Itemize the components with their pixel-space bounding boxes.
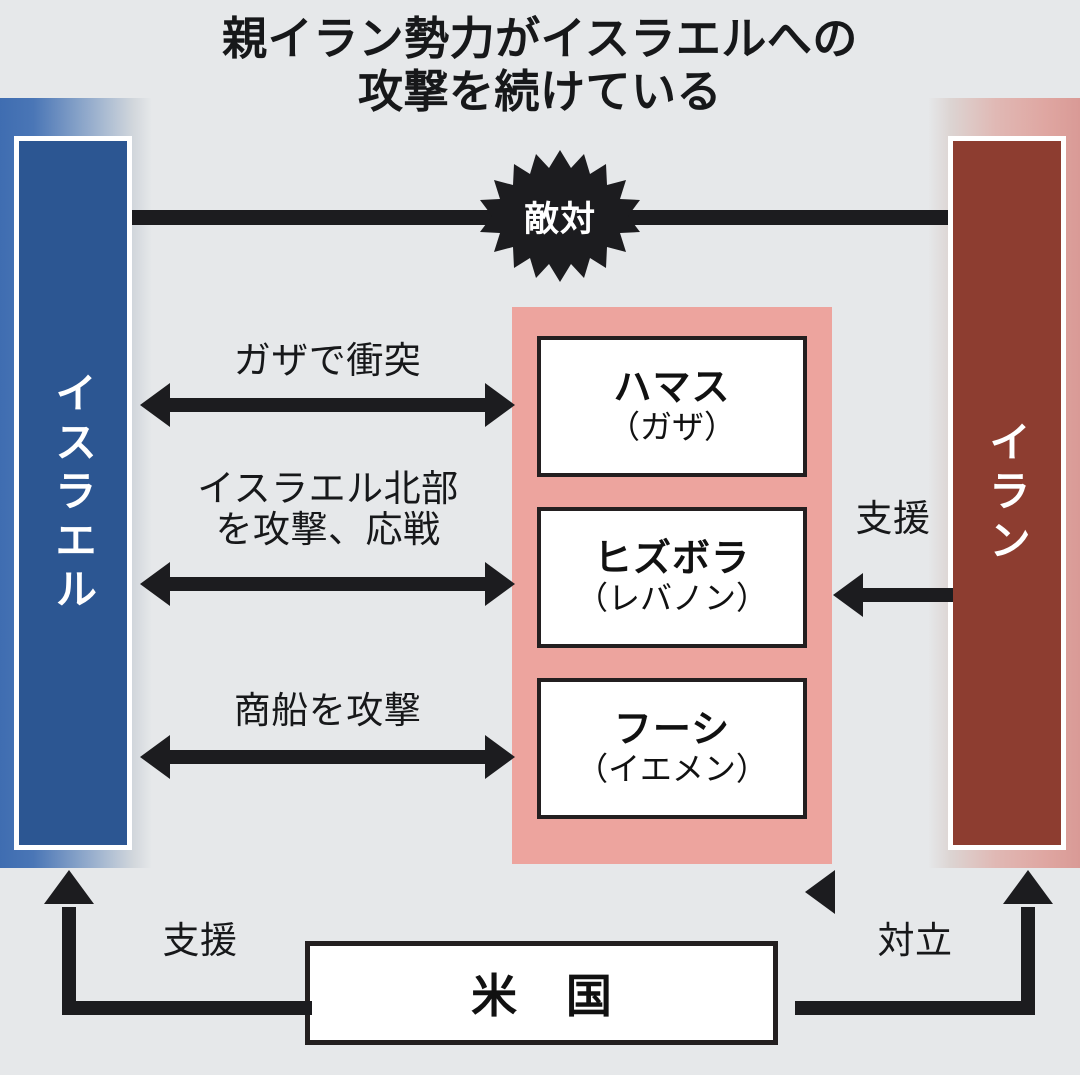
arrowhead-left-icon (780, 870, 835, 914)
arrow-shaft (859, 588, 953, 602)
arrow-segment-horizontal (62, 1001, 312, 1015)
proxy-box-hamas: ハマス （ガザ） (537, 336, 807, 477)
arrowhead-up-icon (1003, 870, 1053, 904)
proxy-location-hezbollah: （レバノン） (576, 581, 768, 616)
relation-label-iran-hezbollah: 支援 (828, 498, 958, 539)
arrowhead-up-icon (44, 870, 94, 904)
actor-label-israel: イスラエル (43, 371, 104, 616)
relation-label-us-israel: 支援 (120, 920, 280, 961)
relation-label-israel-hezbollah-line2: を攻撃、応戦 (128, 509, 528, 550)
infographic-canvas: 親イラン勢力がイスラエルへの 攻撃を続けている 敵対 イスラエル イラン ハマス… (0, 0, 1080, 1075)
relation-label-iran-us: 対立 (835, 920, 995, 961)
actor-label-us: 米 国 (453, 960, 630, 1026)
actor-panel-iran: イラン (948, 136, 1066, 850)
title-line-2: 攻撃を続けている (0, 65, 1080, 118)
relation-label-israel-hezbollah: イスラエル北部 を攻撃、応戦 (128, 468, 528, 551)
title-line-1: 親イラン勢力がイスラエルへの (0, 12, 1080, 65)
arrowhead-right-icon (485, 562, 515, 606)
actor-label-iran: イラン (977, 420, 1038, 567)
arrow-shaft (166, 750, 489, 764)
arrow-shaft (166, 398, 489, 412)
arrow-segment-vertical (1021, 907, 1035, 1015)
page-title: 親イラン勢力がイスラエルへの 攻撃を続けている (0, 12, 1080, 118)
hostility-starburst: 敵対 (480, 150, 640, 282)
proxy-name-hezbollah: ヒズボラ (594, 539, 750, 579)
arrowhead-right-icon (485, 735, 515, 779)
proxy-name-houthi: フーシ (614, 710, 730, 750)
arrow-segment-horizontal (795, 1001, 1035, 1015)
arrowhead-right-icon (485, 383, 515, 427)
relation-label-israel-hamas: ガザで衝突 (140, 340, 515, 381)
proxy-location-houthi: （イエメン） (576, 752, 768, 787)
proxy-box-houthi: フーシ （イエメン） (537, 678, 807, 819)
relation-label-israel-hamas-line1: ガザで衝突 (140, 340, 515, 381)
iran-proxy-group: ハマス （ガザ） ヒズボラ （レバノン） フーシ （イエメン） (512, 307, 832, 864)
proxy-location-hamas: （ガザ） (608, 410, 736, 445)
actor-panel-israel: イスラエル (14, 136, 132, 850)
hostility-label: 敵対 (480, 150, 640, 282)
double-arrow-israel-hamas (140, 383, 515, 427)
relation-label-israel-hezbollah-line1: イスラエル北部 (128, 468, 528, 509)
proxy-box-hezbollah: ヒズボラ （レバノン） (537, 507, 807, 648)
relation-label-israel-houthi: 商船を攻撃 (140, 690, 515, 731)
arrow-iran-to-proxies (833, 573, 953, 617)
double-arrow-israel-hezbollah (140, 562, 515, 606)
double-arrow-israel-houthi (140, 735, 515, 779)
proxy-name-hamas: ハマス (613, 368, 730, 408)
actor-panel-us: 米 国 (305, 941, 778, 1045)
relation-label-israel-houthi-line1: 商船を攻撃 (140, 690, 515, 731)
arrow-shaft (166, 577, 489, 591)
arrow-segment-vertical (62, 907, 76, 1015)
